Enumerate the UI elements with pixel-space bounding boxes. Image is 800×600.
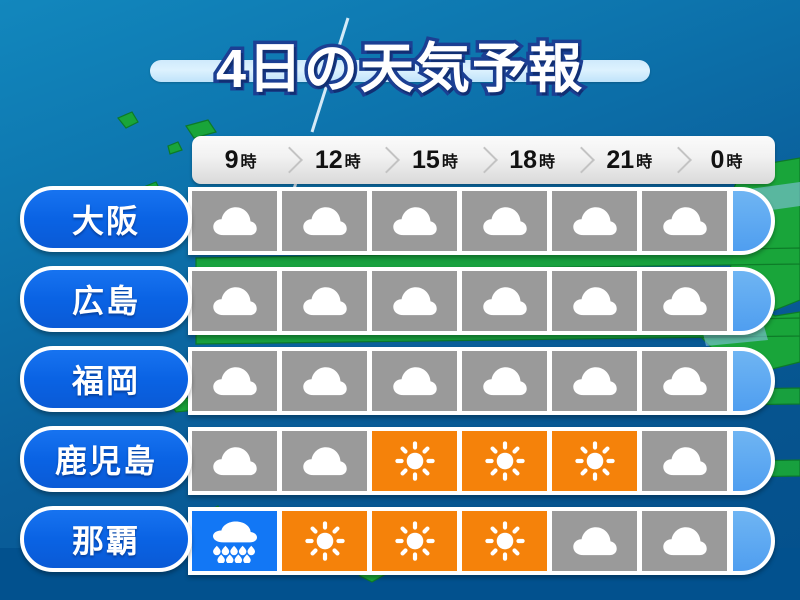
cloud-icon [570,524,620,558]
row-end-cap [733,271,771,331]
weather-cell[interactable] [192,271,277,331]
cloud-icon [660,284,710,318]
time-hour-unit: 時 [726,148,742,172]
weather-forecast-screen: 4日の天気予報 9時12時15時18時21時0時 大阪広島福岡鹿児島那覇 [0,0,800,600]
cloud-icon [210,444,260,478]
cloud-icon [300,204,350,238]
city-name: 大阪 [72,196,140,242]
cloud-icon [660,524,710,558]
forecast-cells-track [188,347,775,415]
cloud-icon [660,204,710,238]
forecast-row: 那覇 [0,506,800,576]
weather-cell[interactable] [462,351,547,411]
sun-icon [484,520,526,562]
time-header-cell: 12時 [289,136,386,184]
page-title-wrap: 4日の天気予報 [0,26,800,112]
weather-cell[interactable] [282,191,367,251]
time-hour: 12 [315,146,343,175]
forecast-row: 広島 [0,266,800,336]
cloud-icon [210,284,260,318]
time-header: 9時12時15時18時21時0時 [192,136,775,184]
weather-cell[interactable] [372,271,457,331]
weather-cell[interactable] [642,431,727,491]
weather-cell[interactable] [552,351,637,411]
city-label-3[interactable]: 福岡 [20,346,192,412]
rain-cloud-icon [208,519,262,563]
time-hour: 21 [606,146,634,175]
weather-cell[interactable] [642,351,727,411]
weather-cell[interactable] [642,191,727,251]
city-name: 鹿児島 [55,436,157,482]
row-end-cap [733,431,771,491]
forecast-cells [192,431,733,491]
forecast-cells [192,271,733,331]
forecast-cells-track [188,507,775,575]
time-header-cell: 9時 [192,136,289,184]
sun-icon [304,520,346,562]
time-hour-unit: 時 [442,148,458,172]
weather-cell[interactable] [462,271,547,331]
cloud-icon [570,284,620,318]
time-header-cell: 18時 [484,136,581,184]
weather-cell[interactable] [642,511,727,571]
forecast-cells [192,511,733,571]
weather-cell[interactable] [282,351,367,411]
time-header-cell: 21時 [581,136,678,184]
city-label-4[interactable]: 鹿児島 [20,426,192,492]
weather-cell[interactable] [192,191,277,251]
weather-cell[interactable] [552,431,637,491]
weather-cell[interactable] [642,271,727,331]
forecast-cells-track [188,427,775,495]
time-header-cell: 15時 [386,136,483,184]
time-hour-unit: 時 [636,148,652,172]
city-label-5[interactable]: 那覇 [20,506,192,572]
forecast-rows: 大阪広島福岡鹿児島那覇 [0,186,800,586]
page-title: 4日の天気予報 [216,39,584,99]
forecast-cells [192,191,733,251]
sun-icon [394,440,436,482]
cloud-icon [480,284,530,318]
time-hour-unit: 時 [345,148,361,172]
time-hour: 9 [225,146,239,175]
city-label-2[interactable]: 広島 [20,266,192,332]
sun-icon [574,440,616,482]
forecast-cells-track [188,187,775,255]
cloud-icon [660,364,710,398]
forecast-row: 鹿児島 [0,426,800,496]
time-header-cell: 0時 [678,136,775,184]
weather-cell[interactable] [372,351,457,411]
city-label-1[interactable]: 大阪 [20,186,192,252]
cloud-icon [390,204,440,238]
weather-cell[interactable] [282,431,367,491]
cloud-icon [300,284,350,318]
cloud-icon [210,204,260,238]
cloud-icon [300,364,350,398]
weather-cell[interactable] [462,191,547,251]
forecast-cells [192,351,733,411]
city-name: 那覇 [72,516,140,562]
weather-cell[interactable] [282,511,367,571]
weather-cell[interactable] [372,511,457,571]
time-hour: 0 [710,146,724,175]
weather-cell[interactable] [552,271,637,331]
city-name: 福岡 [72,356,140,402]
row-end-cap [733,191,771,251]
sun-icon [484,440,526,482]
weather-cell[interactable] [462,431,547,491]
weather-cell[interactable] [552,191,637,251]
row-end-cap [733,351,771,411]
cloud-icon [300,444,350,478]
time-hour-unit: 時 [241,148,257,172]
cloud-icon [480,204,530,238]
cloud-icon [390,364,440,398]
weather-cell[interactable] [552,511,637,571]
cloud-icon [660,444,710,478]
cloud-icon [480,364,530,398]
weather-cell[interactable] [192,431,277,491]
weather-cell[interactable] [192,351,277,411]
cloud-icon [390,284,440,318]
time-hour: 15 [412,146,440,175]
city-name: 広島 [72,276,140,322]
weather-cell[interactable] [372,191,457,251]
cloud-icon [570,204,620,238]
weather-cell[interactable] [282,271,367,331]
weather-cell[interactable] [192,511,277,571]
cloud-icon [210,364,260,398]
time-hour: 18 [509,146,537,175]
forecast-row: 大阪 [0,186,800,256]
cloud-icon [570,364,620,398]
forecast-cells-track [188,267,775,335]
row-end-cap [733,511,771,571]
weather-cell[interactable] [462,511,547,571]
weather-cell[interactable] [372,431,457,491]
time-hour-unit: 時 [539,148,555,172]
sun-icon [394,520,436,562]
forecast-row: 福岡 [0,346,800,416]
